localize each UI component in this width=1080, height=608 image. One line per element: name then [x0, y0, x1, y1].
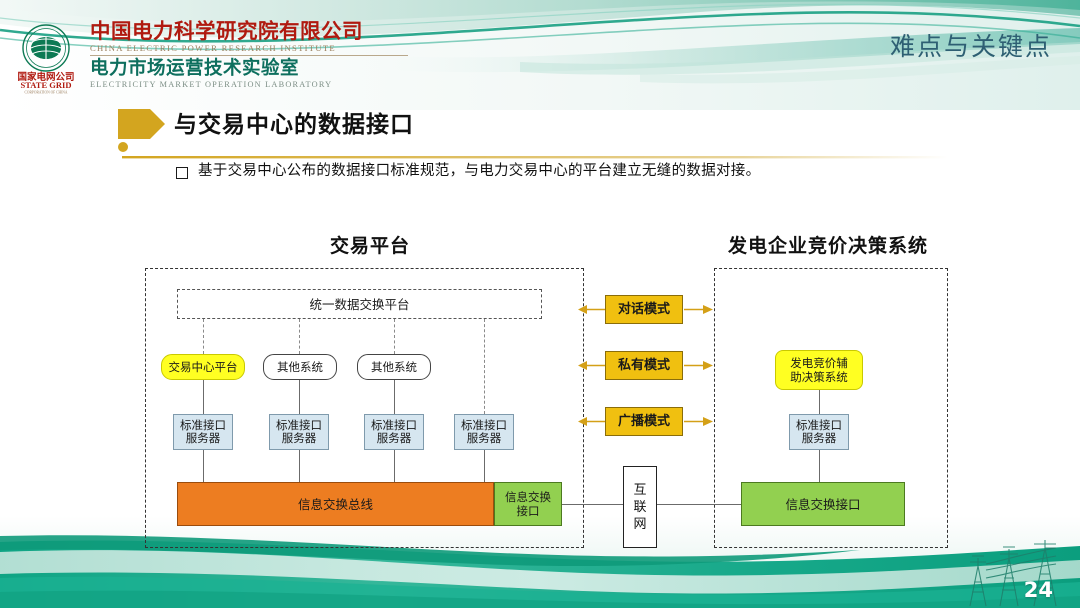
system-node-trading-center[interactable]: 交易中心平台 [161, 354, 245, 380]
connector-platform-sys1 [203, 319, 204, 354]
bus-information-exchange-interface[interactable]: 信息交换 接口 [494, 482, 562, 526]
system-node-other-1[interactable]: 其他系统 [263, 354, 337, 380]
line-rightsys-srv [819, 390, 820, 414]
mode-label: 对话模式 [618, 303, 670, 316]
server-label-line2: 服务器 [802, 432, 837, 445]
mode-box-private[interactable]: 私有模式 [605, 351, 683, 380]
internet-label-char2: 联 [633, 499, 646, 516]
mode-box-broadcast[interactable]: 广播模式 [605, 407, 683, 436]
mode-arrows-left [578, 290, 608, 442]
slide-canvas: 国家电网公司 STATE GRID CORPORATION OF CHINA 中… [0, 0, 1080, 608]
mode-box-dialog[interactable]: 对话模式 [605, 295, 683, 324]
right-green-label: 信息交换接口 [785, 498, 860, 511]
line-srv4-bus [484, 450, 485, 482]
transmission-towers-icon [960, 540, 1070, 608]
standard-interface-server-4[interactable]: 标准接口 服务器 [454, 414, 514, 450]
server-label-line2: 服务器 [377, 432, 412, 445]
system-node-other-2[interactable]: 其他系统 [357, 354, 431, 380]
standard-interface-server-3[interactable]: 标准接口 服务器 [364, 414, 424, 450]
page-number: 24 [1024, 578, 1053, 602]
connector-platform-srv4 [484, 319, 485, 414]
bus-iface-line1: 信息交换 [505, 490, 551, 504]
system-node-label: 其他系统 [277, 361, 323, 374]
unified-data-exchange-platform: 统一数据交换平台 [177, 289, 542, 319]
system-node-label: 交易中心平台 [169, 361, 238, 374]
line-sys1-srv1 [203, 380, 204, 414]
standard-interface-server-1[interactable]: 标准接口 服务器 [173, 414, 233, 450]
information-exchange-bus[interactable]: 信息交换总线 [177, 482, 494, 526]
right-diagram-caption: 发电企业竞价决策系统 [728, 231, 928, 258]
internet-node[interactable]: 互 联 网 [623, 466, 657, 548]
server-label-line2: 服务器 [186, 432, 221, 445]
server-label-line2: 服务器 [467, 432, 502, 445]
server-label-line2: 服务器 [282, 432, 317, 445]
architecture-diagram: 交易平台 发电企业竞价决策系统 统一数据交换平台 交易中心平台 其他系统 其他系… [0, 0, 1080, 608]
right-system-line2: 助决策系统 [790, 370, 848, 384]
line-srv2-bus [299, 450, 300, 482]
internet-label-char1: 互 [633, 482, 646, 499]
right-information-exchange-interface[interactable]: 信息交换接口 [741, 482, 905, 526]
bidding-decision-support-system[interactable]: 发电竞价辅 助决策系统 [775, 350, 863, 390]
system-node-label: 其他系统 [371, 361, 417, 374]
line-sys2-srv2 [299, 380, 300, 414]
connector-platform-sys2 [299, 319, 300, 354]
mode-label: 私有模式 [618, 359, 670, 372]
line-srv-right-green [819, 450, 820, 482]
mode-arrows-right [682, 290, 714, 442]
connector-platform-sys3 [394, 319, 395, 354]
bus-label: 信息交换总线 [298, 498, 373, 511]
line-bus-iface-internet [562, 504, 623, 505]
line-srv1-bus [203, 450, 204, 482]
left-diagram-caption: 交易平台 [330, 231, 410, 258]
line-srv3-bus [394, 450, 395, 482]
mode-label: 广播模式 [618, 415, 670, 428]
line-sys3-srv3 [394, 380, 395, 414]
internet-label-char3: 网 [633, 516, 646, 533]
bus-iface-line2: 接口 [517, 504, 540, 518]
line-internet-right-iface [657, 504, 741, 505]
right-system-line1: 发电竞价辅 [790, 356, 848, 370]
unified-platform-label: 统一数据交换平台 [309, 298, 409, 311]
standard-interface-server-right[interactable]: 标准接口 服务器 [789, 414, 849, 450]
standard-interface-server-2[interactable]: 标准接口 服务器 [269, 414, 329, 450]
